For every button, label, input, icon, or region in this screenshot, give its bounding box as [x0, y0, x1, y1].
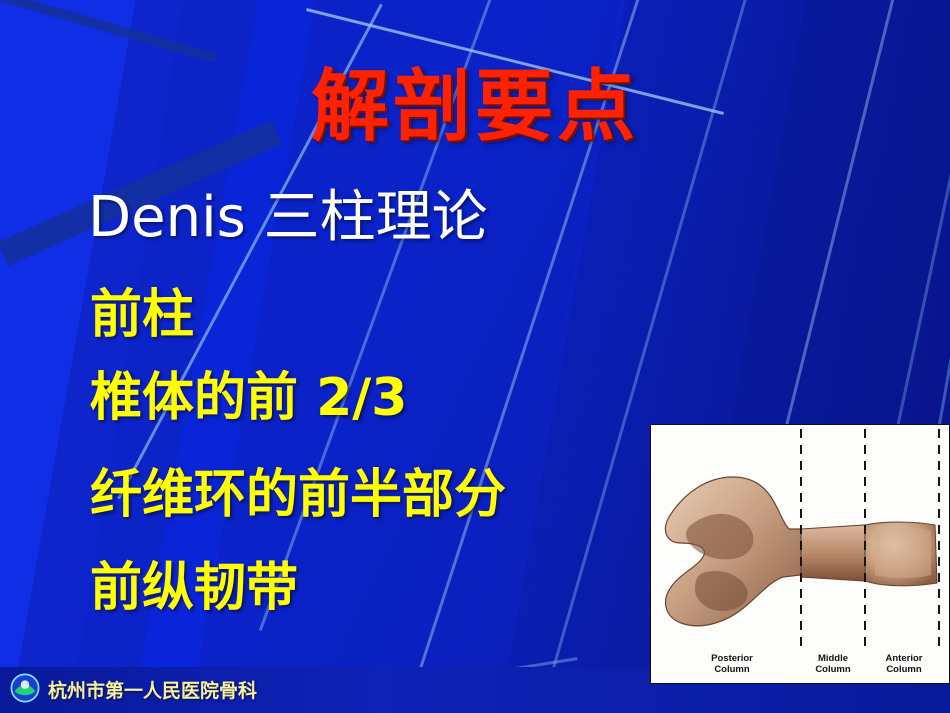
bullet-item-4: 前纵韧带 [90, 545, 298, 620]
caption-posterior-line2: Column [673, 664, 791, 675]
bullet-item-3: 纤维环的前半部分 [90, 452, 506, 527]
vertebra-illustration [651, 425, 949, 683]
caption-posterior-column: Posterior Column [673, 653, 791, 675]
caption-middle-line1: Middle [803, 653, 863, 664]
slide: 解剖要点 Denis 三柱理论 前柱 椎体的前 2/3 纤维环的前半部分 前纵韧… [0, 0, 950, 713]
bullet-item-1: 前柱 [90, 272, 194, 347]
caption-anterior-column: Anterior Column [869, 653, 939, 675]
footer-text: 杭州市第一人民医院骨科 [48, 676, 257, 703]
page-title: 解剖要点 [0, 44, 950, 156]
caption-anterior-line2: Column [869, 664, 939, 675]
bullet-item-2: 椎体的前 2/3 [90, 355, 407, 430]
caption-anterior-line1: Anterior [869, 653, 939, 664]
caption-middle-column: Middle Column [803, 653, 863, 675]
caption-middle-line2: Column [803, 664, 863, 675]
hospital-logo-icon [8, 671, 42, 705]
caption-posterior-line1: Posterior [673, 653, 791, 664]
subtitle: Denis 三柱理论 [88, 172, 488, 253]
vertebra-figure: Posterior Column Middle Column Anterior … [650, 424, 950, 684]
